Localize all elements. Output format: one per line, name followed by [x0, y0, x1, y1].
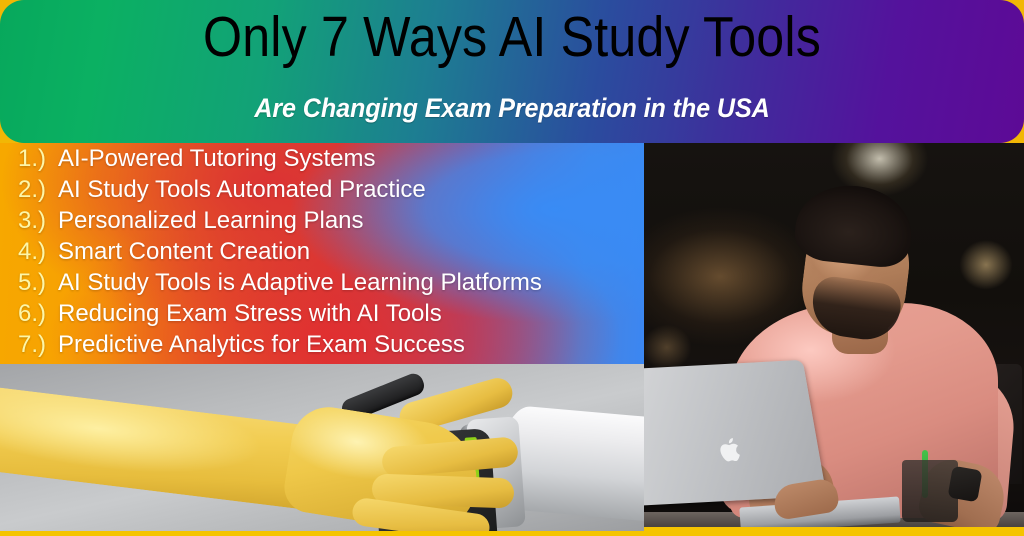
list-item: 4.) Smart Content Creation: [18, 238, 644, 269]
list-items-container: 1.) AI-Powered Tutoring Systems 2.) AI S…: [0, 143, 644, 362]
page-subtitle: Are Changing Exam Preparation in the USA: [36, 93, 988, 124]
list-item-label: Smart Content Creation: [58, 238, 310, 266]
list-item: 3.) Personalized Learning Plans: [18, 207, 644, 238]
apple-logo-icon: [717, 436, 746, 465]
list-item: 1.) AI-Powered Tutoring Systems: [18, 145, 644, 176]
list-item-label: Reducing Exam Stress with AI Tools: [58, 300, 442, 328]
header-banner: Only 7 Ways AI Study Tools Are Changing …: [0, 0, 1024, 143]
list-item-number: 5.): [18, 269, 58, 297]
wrist-watch: [947, 466, 982, 503]
list-item-label: Personalized Learning Plans: [58, 207, 364, 235]
bottom-accent-strip-right: [644, 527, 1024, 536]
list-item-number: 2.): [18, 176, 58, 204]
list-item-label: AI-Powered Tutoring Systems: [58, 145, 375, 173]
list-item-number: 4.): [18, 238, 58, 266]
list-item-number: 3.): [18, 207, 58, 235]
list-item-number: 7.): [18, 331, 58, 359]
list-item-label: AI Study Tools is Adaptive Learning Plat…: [58, 269, 542, 297]
list-item-number: 1.): [18, 145, 58, 173]
list-item-label: Predictive Analytics for Exam Success: [58, 331, 465, 359]
infographic-poster: Only 7 Ways AI Study Tools Are Changing …: [0, 0, 1024, 536]
numbered-list-panel: 1.) AI-Powered Tutoring Systems 2.) AI S…: [0, 143, 644, 364]
man-working-on-laptop-photo: [644, 143, 1024, 536]
list-item-label: AI Study Tools Automated Practice: [58, 176, 426, 204]
list-item-number: 6.): [18, 300, 58, 328]
page-title: Only 7 Ways AI Study Tools: [61, 9, 962, 66]
list-item: 6.) Reducing Exam Stress with AI Tools: [18, 300, 644, 331]
list-item: 7.) Predictive Analytics for Exam Succes…: [18, 331, 644, 362]
list-item: 5.) AI Study Tools is Adaptive Learning …: [18, 269, 644, 300]
list-item: 2.) AI Study Tools Automated Practice: [18, 176, 644, 207]
human-robot-handshake-photo: [0, 364, 644, 536]
